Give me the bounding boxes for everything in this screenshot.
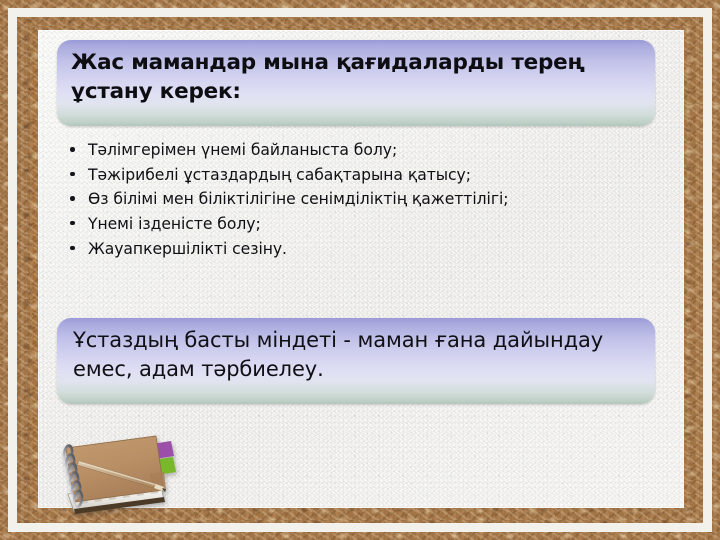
title-text: Жас мамандар мына қағидаларды терең ұста…: [71, 49, 645, 107]
slide-canvas: Жас мамандар мына қағидаларды терең ұста…: [0, 0, 720, 540]
spiral-notebook-icon: [52, 432, 192, 518]
quote-box: Ұстаздың басты міндеті - маман ғана дайы…: [57, 318, 655, 404]
list-item: Үнемі ізденісте болу;: [62, 212, 642, 237]
title-box: Жас мамандар мына қағидаларды терең ұста…: [57, 40, 655, 126]
bullet-text: Тәлімгерімен үнемі байланыста болу;: [88, 141, 397, 159]
list-item: Өз білімі мен біліктілігіне сенімділікті…: [62, 187, 642, 212]
bullet-text: Жауапкершілікті сезіну.: [88, 240, 287, 258]
bullet-text: Өз білімі мен біліктілігіне сенімділікті…: [88, 190, 508, 208]
bullet-text: Үнемі ізденісте болу;: [88, 215, 261, 233]
list-item: Тәжірибелі ұстаздардың сабақтарына қатыс…: [62, 163, 642, 188]
bullet-text: Тәжірибелі ұстаздардың сабақтарына қатыс…: [88, 166, 471, 184]
notebook-body: [63, 436, 176, 514]
list-item: Тәлімгерімен үнемі байланыста болу;: [62, 138, 642, 163]
list-item: Жауапкершілікті сезіну.: [62, 237, 642, 262]
bullet-list: Тәлімгерімен үнемі байланыста болу; Тәжі…: [62, 138, 642, 261]
quote-text: Ұстаздың басты міндеті - маман ғана дайы…: [73, 326, 643, 384]
